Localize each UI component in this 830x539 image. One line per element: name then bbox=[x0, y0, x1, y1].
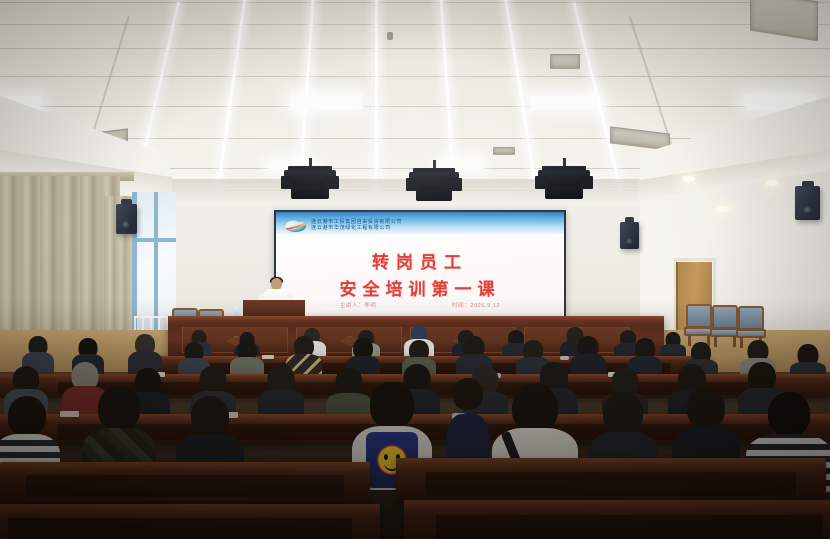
hanging-light-fixture bbox=[284, 158, 336, 202]
recessed-downlight bbox=[716, 206, 729, 212]
bench-row-5-foreground bbox=[404, 500, 830, 539]
conference-hall-photo: 连云港市工投集团自来投资有限公司 连云港市华茂绿化工程有限公司 转岗员工 安全培… bbox=[0, 0, 830, 539]
bench-row-5-foreground bbox=[0, 504, 380, 539]
air-vent bbox=[493, 147, 515, 155]
air-vent bbox=[610, 126, 670, 150]
handout-paper bbox=[60, 411, 79, 417]
hanging-light-fixture bbox=[409, 160, 459, 202]
bench-row-4 bbox=[0, 462, 370, 502]
phone-screen bbox=[560, 356, 569, 360]
wall-speaker bbox=[116, 204, 137, 234]
ceiling-panel-light bbox=[290, 94, 362, 110]
air-vent bbox=[550, 54, 580, 69]
slide-presenter-label: 主讲人：李明 bbox=[340, 301, 377, 309]
company-logo-icon bbox=[285, 220, 306, 232]
projection-screen: 连云港市工投集团自来投资有限公司 连云港市华茂绿化工程有限公司 转岗员工 安全培… bbox=[276, 212, 564, 320]
slide-title-line-2: 安全培训第一课 bbox=[276, 275, 564, 300]
hanging-light-fixture bbox=[538, 158, 590, 202]
air-vent bbox=[750, 0, 818, 41]
bench-row-4 bbox=[396, 458, 826, 502]
recessed-downlight bbox=[766, 180, 779, 186]
sprinkler-head bbox=[387, 32, 393, 40]
ceiling-panel-light bbox=[529, 95, 599, 110]
side-chair[interactable] bbox=[712, 305, 738, 347]
projection-screen-frame: 连云港市工投集团自来投资有限公司 连云港市华茂绿化工程有限公司 转岗员工 安全培… bbox=[274, 210, 566, 322]
wall-speaker bbox=[620, 222, 639, 249]
recessed-downlight bbox=[682, 176, 695, 182]
slide-date-label: 时间：2025.9.12 bbox=[452, 301, 500, 309]
slide-title: 转岗员工 安全培训第一课 bbox=[276, 248, 564, 300]
side-chair[interactable] bbox=[686, 304, 712, 346]
slide-footer: 主讲人：李明 时间：2025.9.12 bbox=[276, 301, 564, 309]
slide-title-line-1: 转岗员工 bbox=[276, 248, 564, 273]
wall-speaker bbox=[795, 186, 820, 220]
company-name-line-2: 连云港市华茂绿化工程有限公司 bbox=[311, 226, 402, 232]
